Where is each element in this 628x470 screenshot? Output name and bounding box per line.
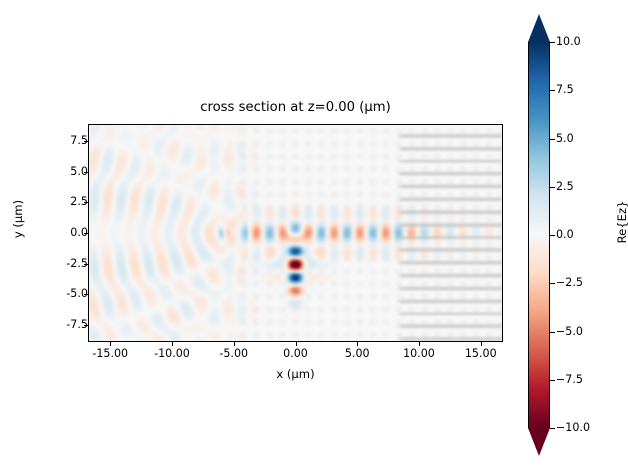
colorbar-gradient [528,42,550,428]
x-tick-label: 0.00 [261,348,331,359]
x-tick-mark [234,342,235,346]
matplotlib-figure: cross section at z=0.00 (µm) y (µm) x (µ… [0,0,628,470]
x-tick-mark [357,342,358,346]
x-tick-label: 5.00 [322,348,392,359]
colorbar-tick-label: 2.5 [556,181,574,192]
colorbar-tick-mark [550,332,555,333]
heatmap-axes [88,124,503,342]
colorbar-tick-mark [550,235,555,236]
colorbar-tick-mark [550,187,555,188]
x-tick-label: 15.00 [446,348,516,359]
x-tick-label: -15.00 [75,348,145,359]
colorbar-tick-label: −10.0 [556,422,590,433]
x-tick-mark [172,342,173,346]
colorbar-tick-label: 0.0 [556,229,574,240]
colorbar-tick-label: 10.0 [556,36,581,47]
x-tick-mark [296,342,297,346]
x-tick-label: 10.00 [384,348,454,359]
x-axis-label: x (µm) [88,367,503,381]
x-tick-mark [419,342,420,346]
colorbar-tick-label: −5.0 [556,326,583,337]
colorbar-tick-label: −2.5 [556,277,583,288]
colorbar [528,14,550,456]
colorbar-extend-top [528,14,550,42]
colorbar-tick-mark [550,428,555,429]
plot-title: cross section at z=0.00 (µm) [88,100,503,116]
colorbar-tick-mark [550,283,555,284]
field-heatmap [89,125,502,341]
colorbar-tick-mark [550,380,555,381]
x-tick-label: -10.00 [137,348,207,359]
colorbar-tick-mark [550,42,555,43]
x-tick-label: -5.00 [199,348,269,359]
x-tick-mark [481,342,482,346]
x-tick-mark [110,342,111,346]
colorbar-tick-label: −7.5 [556,374,583,385]
y-axis-label: y (µm) [11,179,25,259]
colorbar-tick-mark [550,139,555,140]
colorbar-extend-bottom [528,428,550,456]
colorbar-tick-mark [550,90,555,91]
colorbar-label: Re{Ez} [615,167,628,277]
colorbar-tick-label: 7.5 [556,84,574,95]
colorbar-tick-label: 5.0 [556,133,574,144]
